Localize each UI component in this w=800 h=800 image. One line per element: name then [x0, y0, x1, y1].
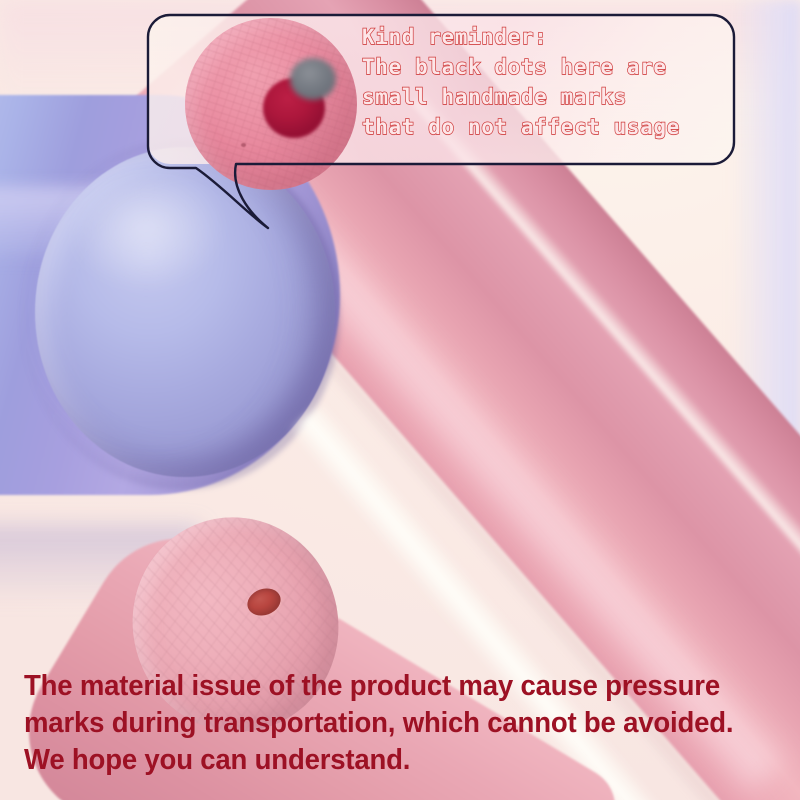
caption-line-2: marks during transportation, which canno… [24, 705, 746, 742]
callout-line-4: that do not affect usage [362, 112, 734, 142]
callout-line-2: The black dots here are [362, 52, 734, 82]
blue-cylinder-gloss [70, 175, 260, 325]
callout-text-block: Kind reminder: The black dots here are s… [362, 22, 734, 142]
small-speck-icon [241, 143, 246, 147]
caption-line-1: The material issue of the product may ca… [24, 668, 746, 705]
magnified-end-face [185, 18, 357, 190]
caption-line-3: We hope you can understand. [24, 742, 746, 779]
callout-line-3: small handmade marks [362, 82, 734, 112]
callout-line-1: Kind reminder: [362, 22, 734, 52]
black-dot-mark-icon [290, 58, 336, 100]
product-disclaimer-image: Kind reminder: The black dots here are s… [0, 0, 800, 800]
bottom-caption: The material issue of the product may ca… [24, 668, 746, 779]
